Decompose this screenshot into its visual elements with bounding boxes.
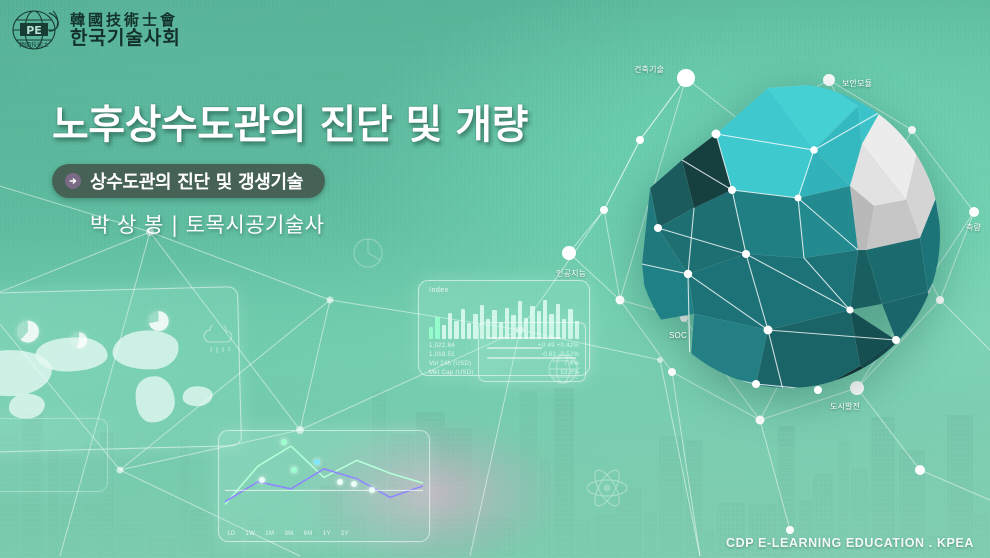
- cloud-rain-icon: [198, 325, 238, 359]
- globe-wireframe-icon: [542, 348, 584, 390]
- svg-text:韓國技術士: 韓國技術士: [19, 41, 49, 49]
- timeframe-option-6m[interactable]: 6M: [304, 531, 313, 537]
- atom-icon: [584, 465, 630, 511]
- timeseries-line-panel: 1D1W1M3M6M1Y2Y: [218, 430, 430, 542]
- network-node-label-n6: 도시발전: [830, 401, 860, 412]
- timeframe-selector[interactable]: 1D1W1M3M6M1Y2Y: [227, 531, 421, 537]
- bar: [442, 325, 446, 339]
- footer-branding: CDP E-LEARNING EDUCATION . KPEA: [726, 536, 974, 550]
- timeframe-option-3m[interactable]: 3M: [284, 531, 293, 537]
- title-block: 노후상수도관의 진단 및 개량 상수도관의 진단 및 갱생기술 박 상 봉 | …: [52, 92, 572, 239]
- bar: [467, 323, 471, 339]
- arrow-right-circle-icon: [65, 173, 81, 189]
- bar-panel-label: Index: [429, 287, 449, 294]
- pie-chart-icon: [350, 235, 386, 271]
- bar: [473, 314, 477, 339]
- bar: [435, 317, 439, 339]
- page-title: 노후상수도관의 진단 및 개량: [52, 92, 572, 150]
- timeframe-option-2y[interactable]: 2Y: [341, 531, 349, 537]
- presentation-title-slide: Infographic Index 1,022.84+0.49 +0.42%1,…: [0, 0, 990, 558]
- timeframe-option-1w[interactable]: 1W: [245, 531, 255, 537]
- low-poly-globe-graphic: [628, 78, 948, 398]
- timeframe-option-1y[interactable]: 1Y: [323, 531, 331, 537]
- network-node-label-n3: 측량: [966, 222, 981, 233]
- bar: [461, 309, 465, 339]
- network-node-label-n2: 보안모듈: [842, 78, 872, 89]
- bar: [429, 327, 433, 339]
- network-node-label-n5: SOC: [669, 331, 687, 340]
- logo-hangul-text: 한국기술사회: [70, 29, 181, 49]
- network-node-label-n1: 건축기술: [634, 64, 664, 75]
- subtitle-banner: 상수도관의 진단 및 갱생기술: [52, 164, 325, 198]
- presenter-name: 박 상 봉 | 토목시공기술사: [90, 209, 572, 239]
- kpea-logo: PE 韓國技術士 韓國技術士會 한국기술사회: [8, 6, 181, 56]
- bar: [454, 321, 458, 339]
- timeframe-option-1m[interactable]: 1M: [265, 531, 274, 537]
- logo-hanja-text: 韓國技術士會: [70, 13, 181, 29]
- secondary-left-panel: [0, 418, 108, 492]
- timeframe-option-1d[interactable]: 1D: [227, 531, 235, 537]
- subtitle-text: 상수도관의 진단 및 갱생기술: [90, 168, 303, 194]
- bar: [448, 313, 452, 339]
- svg-text:PE: PE: [26, 24, 42, 37]
- network-node-label-n4: 인공지능: [556, 268, 586, 279]
- hud-line-chart: [225, 435, 423, 514]
- kpea-globe-pe-emblem: PE 韓國技術士: [8, 6, 62, 56]
